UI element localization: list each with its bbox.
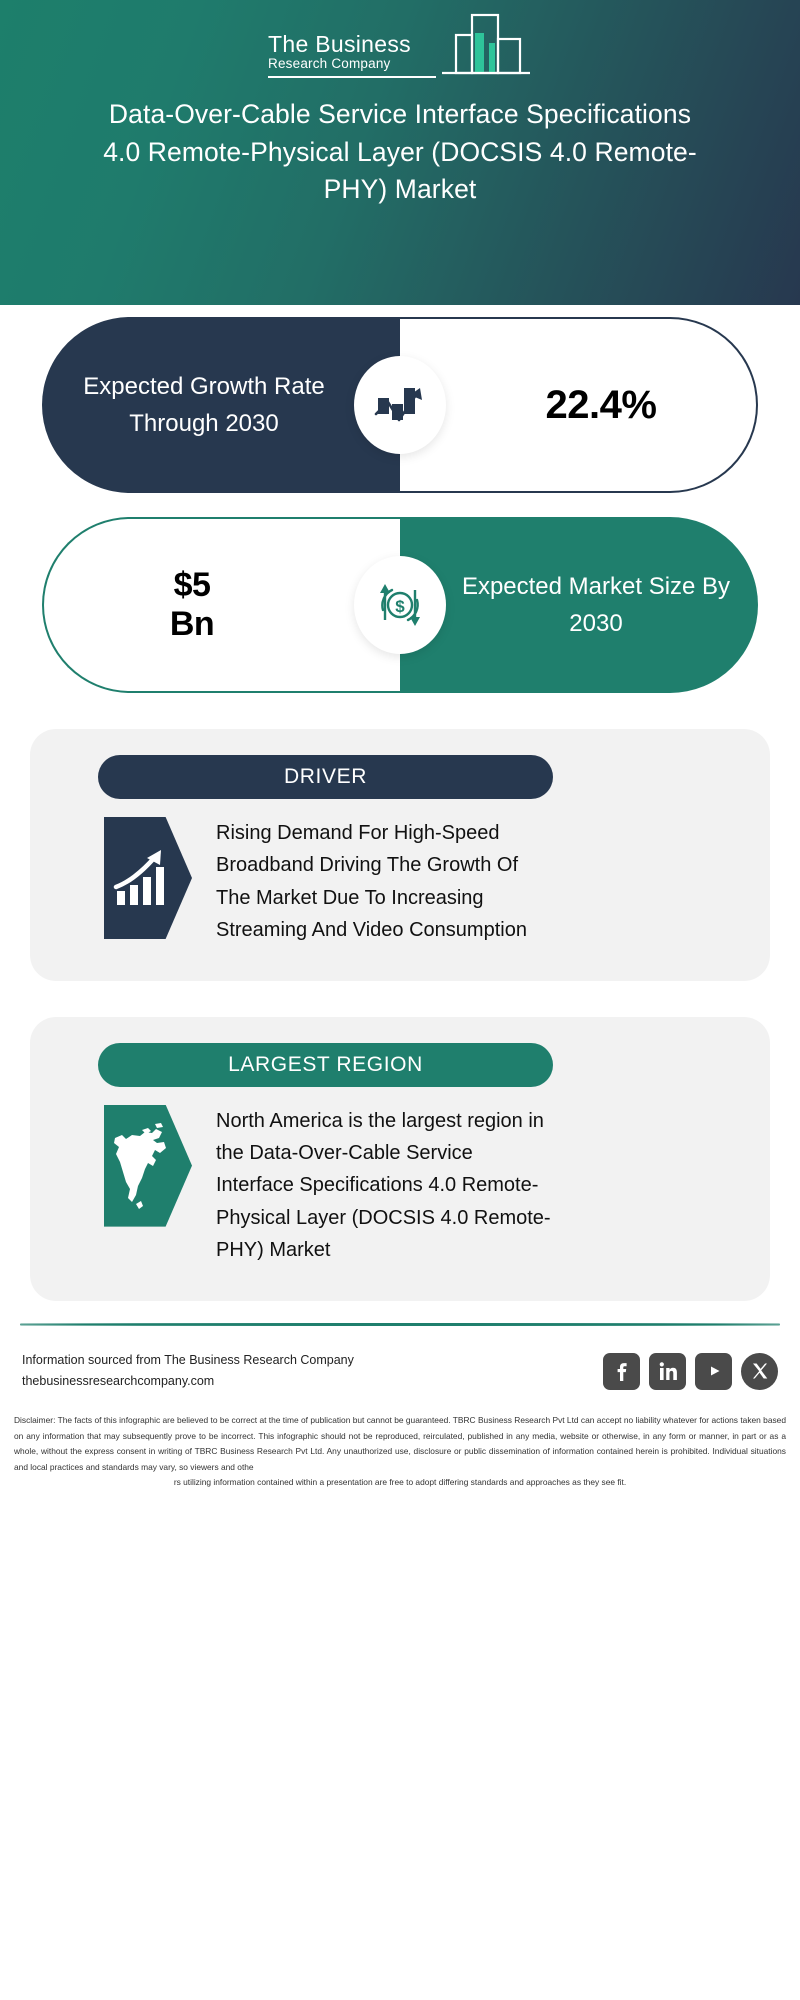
disclaimer: Disclaimer: The facts of this infographi… xyxy=(0,1393,800,1491)
market-size-value-line2: Bn xyxy=(170,605,214,643)
largest-region-pill-label: LARGEST REGION xyxy=(228,1053,423,1077)
logo-wordmark: The Business Research Company xyxy=(268,32,436,84)
logo-underline xyxy=(268,76,436,78)
market-size-label-panel: Expected Market Size By 2030 xyxy=(400,517,758,693)
market-size-label: Expected Market Size By 2030 xyxy=(400,568,758,642)
x-twitter-icon[interactable] xyxy=(741,1353,778,1390)
driver-pill-label: DRIVER xyxy=(284,765,367,789)
bar-chart-logo-mark xyxy=(434,13,532,84)
growth-bar-chart-arrow-icon xyxy=(104,817,192,939)
driver-pill: DRIVER xyxy=(98,755,553,799)
facebook-icon[interactable] xyxy=(603,1353,640,1390)
largest-region-card: LARGEST REGION North America is the larg… xyxy=(30,1017,770,1301)
linkedin-icon[interactable] xyxy=(649,1353,686,1390)
stat-band-market-size: $5 Bn Expected Market Size By 2030 $ xyxy=(0,505,800,705)
logo-line2: Research Company xyxy=(268,57,391,72)
market-size-value-line1: $5 xyxy=(174,566,211,604)
source-website[interactable]: thebusinessresearchcompany.com xyxy=(22,1371,354,1393)
growth-rate-label: Expected Growth Rate Through 2030 xyxy=(42,368,400,442)
growth-chart-arrow-icon xyxy=(354,356,446,454)
north-america-map-icon xyxy=(104,1105,192,1227)
infographic-page: The Business Research Company Data-Over-… xyxy=(0,0,800,2000)
header: The Business Research Company Data-Over-… xyxy=(0,0,800,305)
driver-card: DRIVER Rising Demand For High-Speed Broa… xyxy=(30,729,770,981)
growth-rate-value-panel: 22.4% xyxy=(400,317,758,493)
source-attribution: Information sourced from The Business Re… xyxy=(22,1350,354,1394)
company-logo: The Business Research Company xyxy=(268,16,532,84)
source-line1: Information sourced from The Business Re… xyxy=(22,1350,354,1372)
growth-rate-value: 22.4% xyxy=(500,382,657,428)
svg-text:$: $ xyxy=(395,597,405,616)
market-size-value: $5 Bn xyxy=(170,566,274,644)
driver-body-text: Rising Demand For High-Speed Broadband D… xyxy=(216,817,556,947)
largest-region-pill: LARGEST REGION xyxy=(98,1043,553,1087)
logo-line1: The Business xyxy=(268,32,411,56)
largest-region-body-text: North America is the largest region in t… xyxy=(216,1105,556,1267)
social-links xyxy=(603,1353,778,1390)
disclaimer-last-line: rs utilizing information contained withi… xyxy=(14,1475,786,1491)
disclaimer-main-text: Disclaimer: The facts of this infographi… xyxy=(14,1415,786,1472)
market-size-value-panel: $5 Bn xyxy=(42,517,400,693)
youtube-icon[interactable] xyxy=(695,1353,732,1390)
stat-band-growth-rate: Expected Growth Rate Through 2030 22.4% xyxy=(0,305,800,505)
footer: Information sourced from The Business Re… xyxy=(0,1326,800,1394)
dollar-circulation-icon: $ xyxy=(354,556,446,654)
page-title: Data-Over-Cable Service Interface Specif… xyxy=(90,96,710,209)
growth-rate-label-panel: Expected Growth Rate Through 2030 xyxy=(42,317,400,493)
